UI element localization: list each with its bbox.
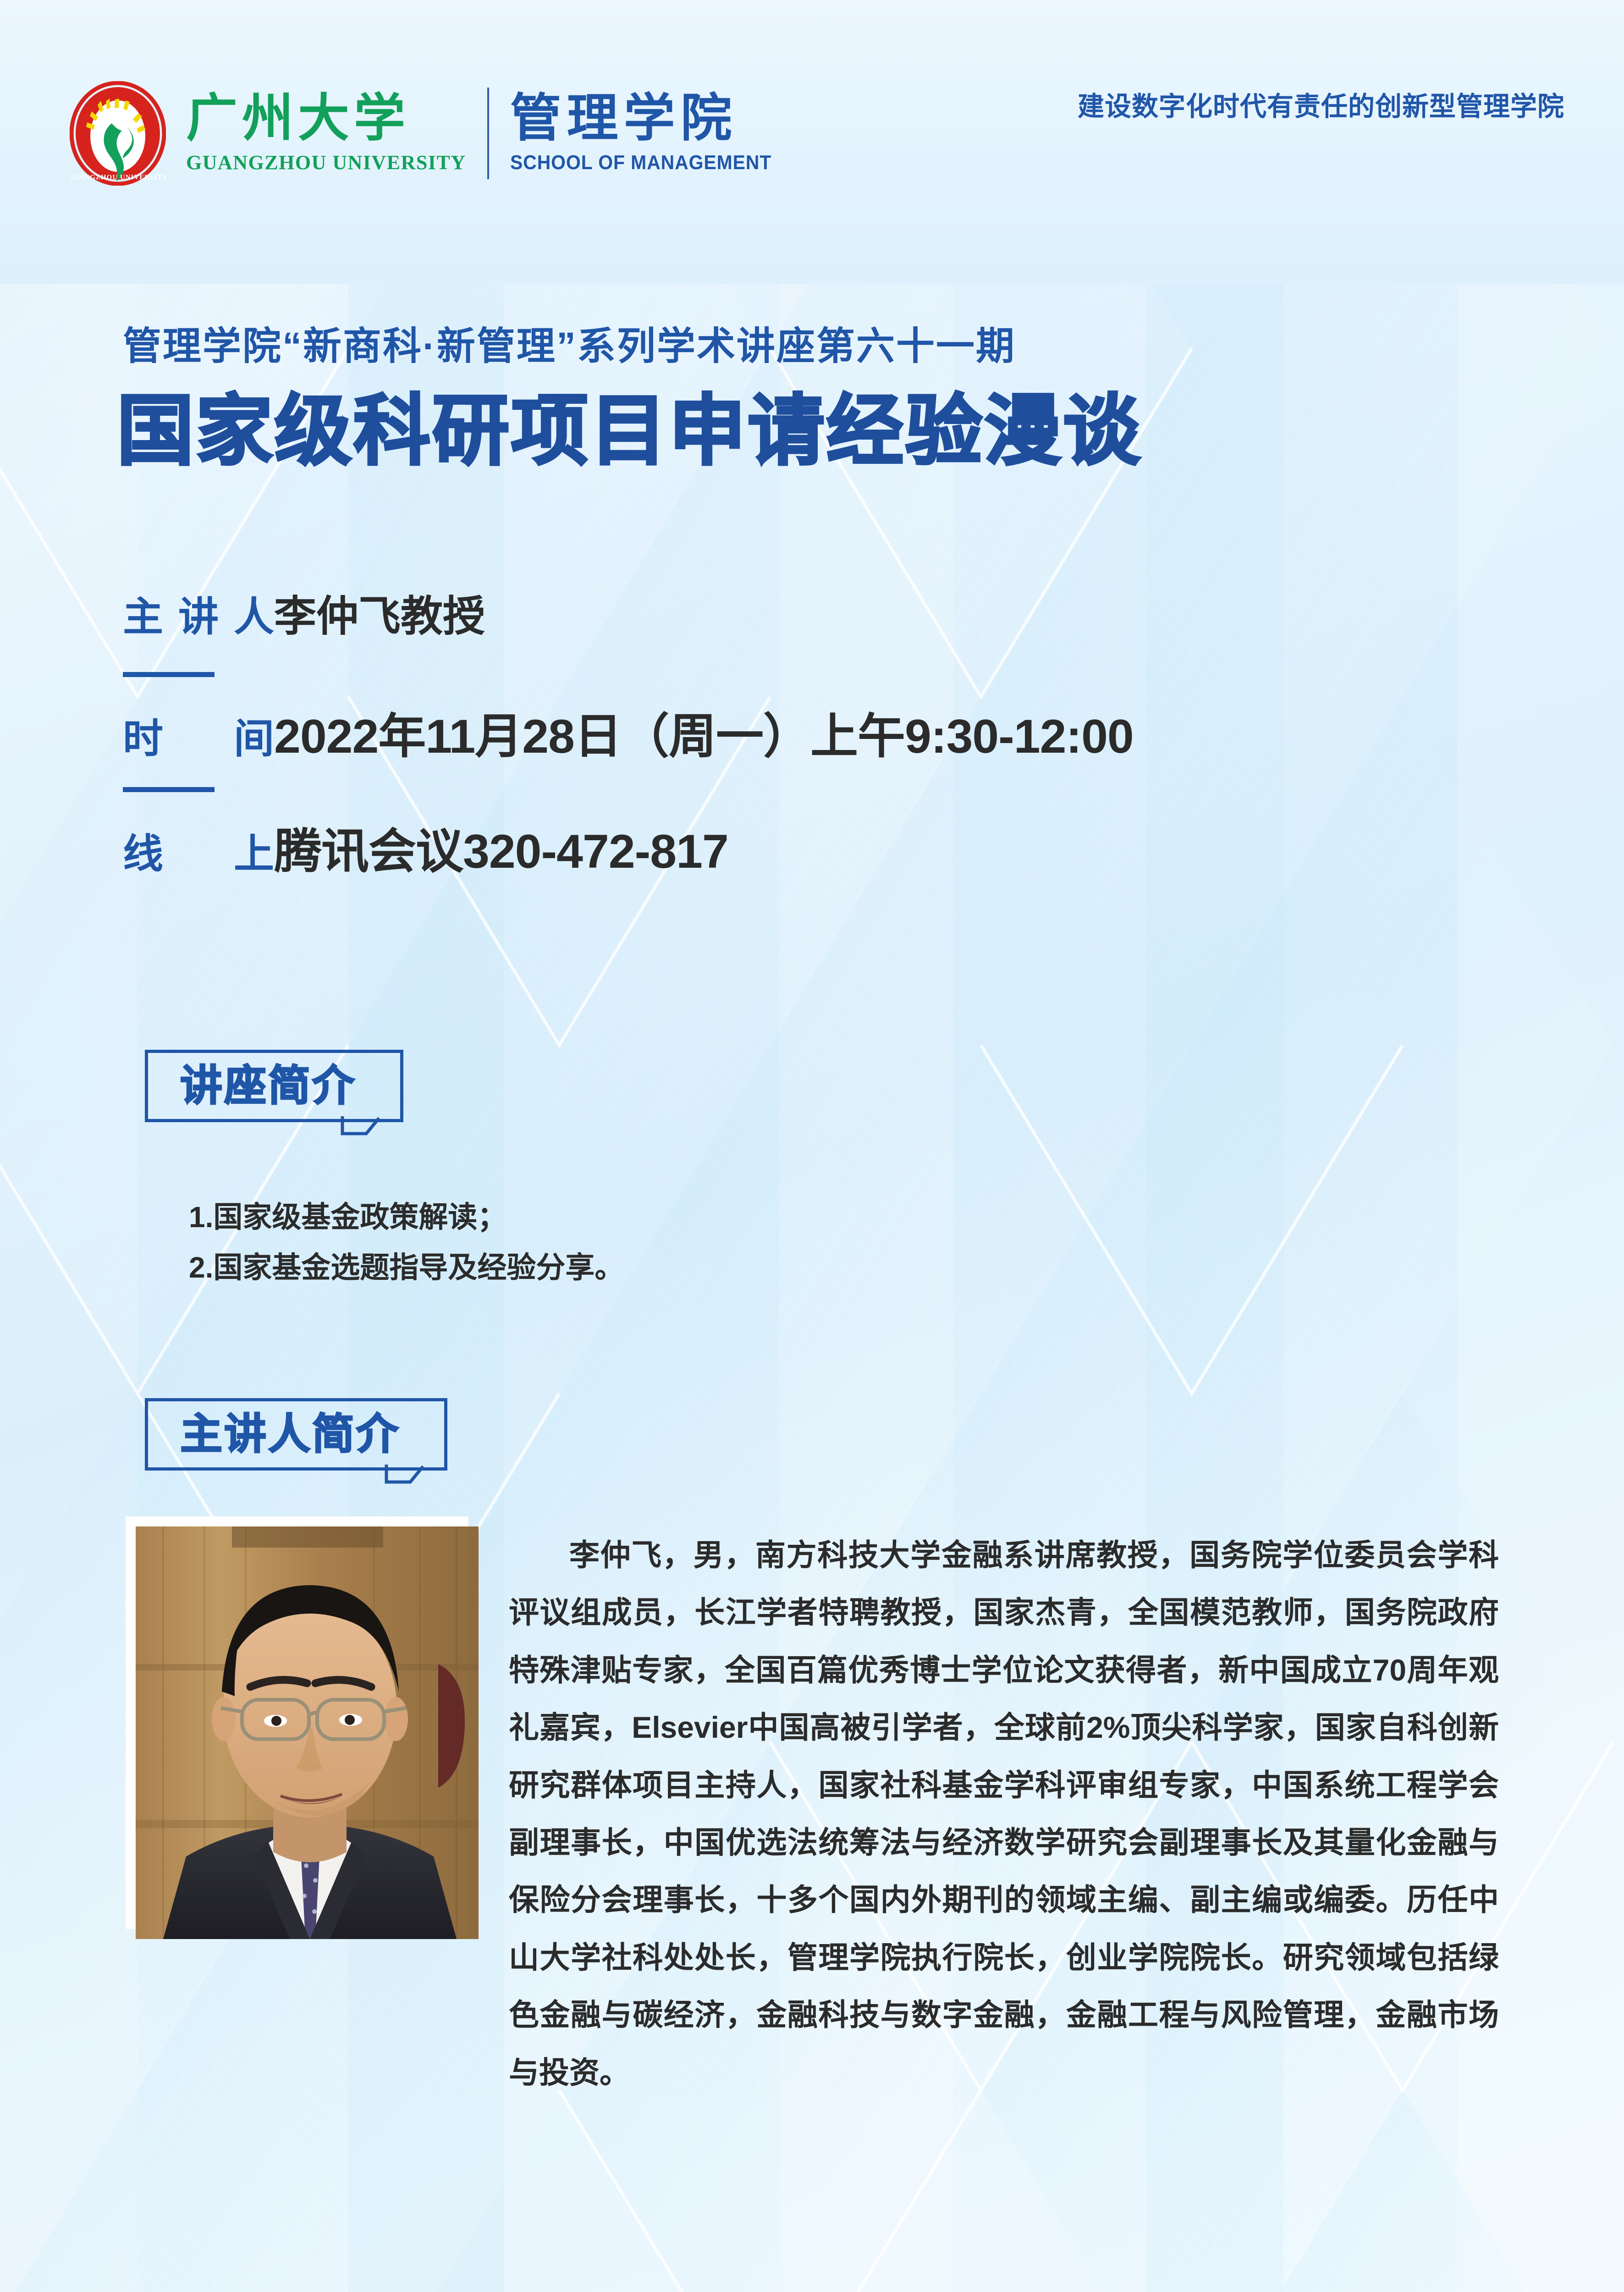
university-name-block: 广州大学 GUANGZHOU UNIVERSITY bbox=[186, 93, 466, 174]
info-label-speaker-ch3: 人 bbox=[234, 584, 274, 643]
info-label-time-ch2: 间 bbox=[234, 706, 274, 765]
logo-divider bbox=[487, 88, 489, 179]
section-heading-lecture-box: 讲座简介 bbox=[145, 1050, 403, 1122]
poster-canvas: GUANGZHOU UNIVERSITY 广州大学 GUANGZHOU UNIV… bbox=[0, 0, 1624, 2292]
lecture-intro-item-2: 2.国家基金选题指导及经验分享。 bbox=[189, 1242, 624, 1293]
page-title: 国家级科研项目申请经验漫谈 bbox=[117, 390, 1142, 473]
info-label-speaker-ch2: 讲 bbox=[178, 584, 219, 643]
info-row-online: 线 上 腾讯会议320-472-817 bbox=[123, 812, 1498, 881]
info-row-time: 时 间 2022年11月28日（周一）上午9:30-12:00 bbox=[123, 697, 1498, 766]
info-label-speaker-ch1: 主 bbox=[123, 584, 163, 643]
institution-logo-lockup: GUANGZHOU UNIVERSITY 广州大学 GUANGZHOU UNIV… bbox=[70, 81, 791, 186]
info-label-online-ch1: 线 bbox=[123, 821, 163, 880]
info-label-online: 线 上 bbox=[123, 821, 274, 880]
info-label-speaker: 主 讲 人 bbox=[123, 584, 274, 643]
lecture-series-subtitle: 管理学院“新商科·新管理”系列学术讲座第六十一期 bbox=[123, 315, 1016, 371]
speech-bubble-tail-icon bbox=[385, 1465, 425, 1486]
info-divider-2 bbox=[123, 787, 215, 792]
event-info-block: 主 讲 人 李仲飞教授 时 间 2022年11月28日（周一）上午9:30-12… bbox=[123, 582, 1498, 881]
info-value-online: 腾讯会议320-472-817 bbox=[274, 812, 728, 882]
university-name-cn: 广州大学 bbox=[186, 93, 466, 144]
university-seal-icon: GUANGZHOU UNIVERSITY bbox=[70, 81, 166, 186]
svg-text:GUANGZHOU UNIVERSITY: GUANGZHOU UNIVERSITY bbox=[70, 174, 166, 181]
school-name-block: 管理学院 SCHOOL OF MANAGEMENT bbox=[510, 93, 791, 174]
info-value-time: 2022年11月28日（周一）上午9:30-12:00 bbox=[274, 697, 1134, 766]
speaker-bio-text: 李仲飞，男，南方科技大学金融系讲席教授，国务院学位委员会学科评议组成员，长江学者… bbox=[509, 1526, 1499, 2101]
info-value-speaker: 李仲飞教授 bbox=[274, 582, 485, 643]
section-heading-speaker-label: 主讲人简介 bbox=[180, 1413, 400, 1455]
info-label-time: 时 间 bbox=[123, 706, 274, 765]
info-divider-1 bbox=[123, 672, 215, 677]
info-label-time-ch1: 时 bbox=[123, 706, 163, 765]
university-name-en: GUANGZHOU UNIVERSITY bbox=[186, 151, 466, 174]
lecture-intro-list: 1.国家级基金政策解读； 2.国家基金选题指导及经验分享。 bbox=[189, 1192, 624, 1293]
poster-header: GUANGZHOU UNIVERSITY 广州大学 GUANGZHOU UNIV… bbox=[0, 0, 1624, 215]
school-name-cn: 管理学院 bbox=[510, 93, 791, 144]
lecture-intro-item-1: 1.国家级基金政策解读； bbox=[189, 1192, 624, 1242]
speaker-portrait-photo bbox=[136, 1526, 479, 1939]
school-name-en: SCHOOL OF MANAGEMENT bbox=[510, 151, 771, 174]
section-heading-speaker-box: 主讲人简介 bbox=[145, 1398, 447, 1471]
section-heading-lecture-label: 讲座简介 bbox=[180, 1065, 356, 1107]
info-label-online-ch2: 上 bbox=[234, 821, 274, 880]
speech-bubble-tail-icon bbox=[341, 1116, 381, 1137]
header-tagline: 建设数字化时代有责任的创新型管理学院 bbox=[1078, 85, 1564, 123]
section-heading-lecture: 讲座简介 bbox=[145, 1050, 403, 1122]
section-heading-speaker: 主讲人简介 bbox=[145, 1398, 447, 1471]
info-row-speaker: 主 讲 人 李仲飞教授 bbox=[123, 582, 1498, 651]
